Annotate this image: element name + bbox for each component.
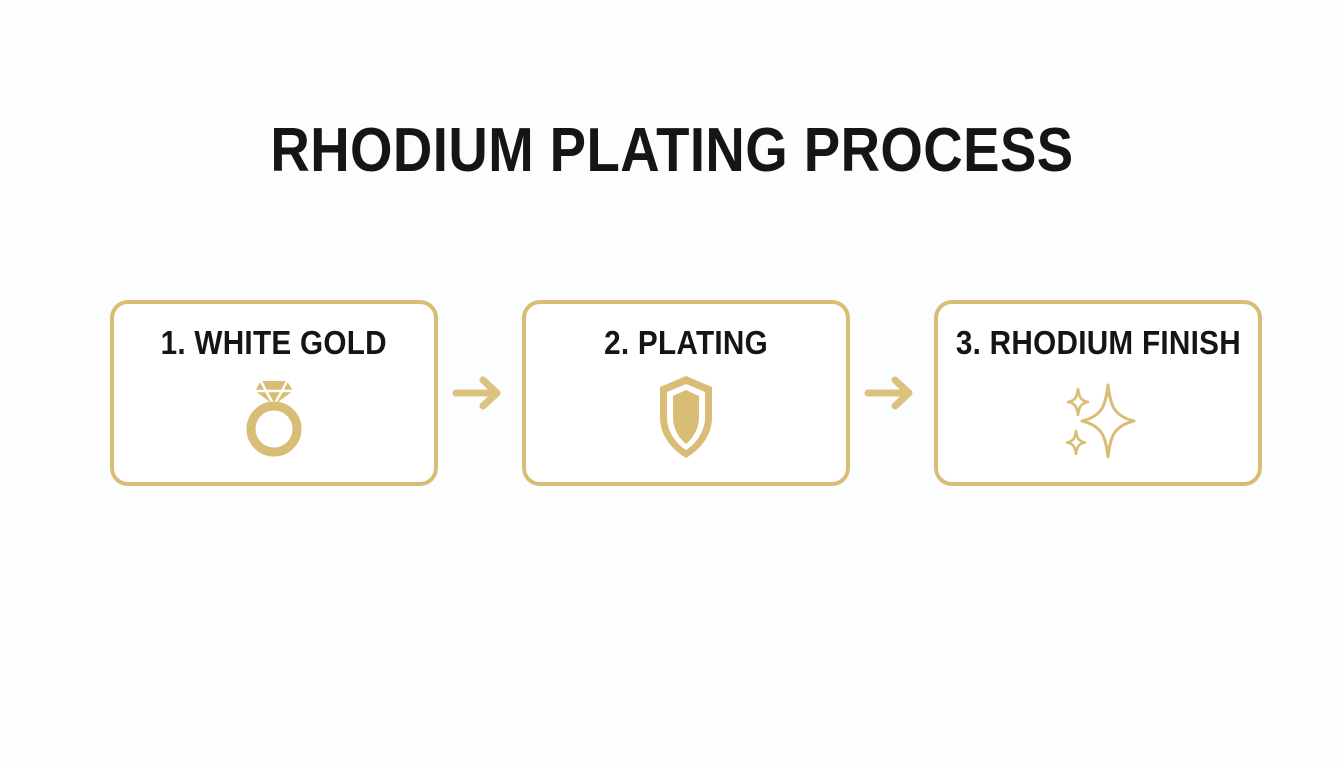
arrow-right-icon (864, 371, 920, 415)
process-step-plating[interactable]: 2. PLATING (522, 300, 850, 486)
sparkles-icon (1052, 371, 1144, 463)
process-step-white-gold[interactable]: 1. WHITE GOLD (110, 300, 438, 486)
step-label: 1. WHITE GOLD (161, 326, 387, 359)
step-label: 2. PLATING (604, 326, 768, 359)
process-flow: 1. WHITE GOLD (110, 300, 1244, 486)
page-title: RHODIUM PLATING PROCESS (81, 120, 1264, 182)
shield-icon (640, 371, 732, 463)
slide-canvas: RHODIUM PLATING PROCESS 1. WHITE GOLD (0, 0, 1344, 768)
diamond-ring-icon (228, 371, 320, 463)
step-label: 3. RHODIUM FINISH (955, 326, 1240, 359)
process-step-rhodium-finish[interactable]: 3. RHODIUM FINISH (934, 300, 1262, 486)
arrow-right-icon (452, 371, 508, 415)
